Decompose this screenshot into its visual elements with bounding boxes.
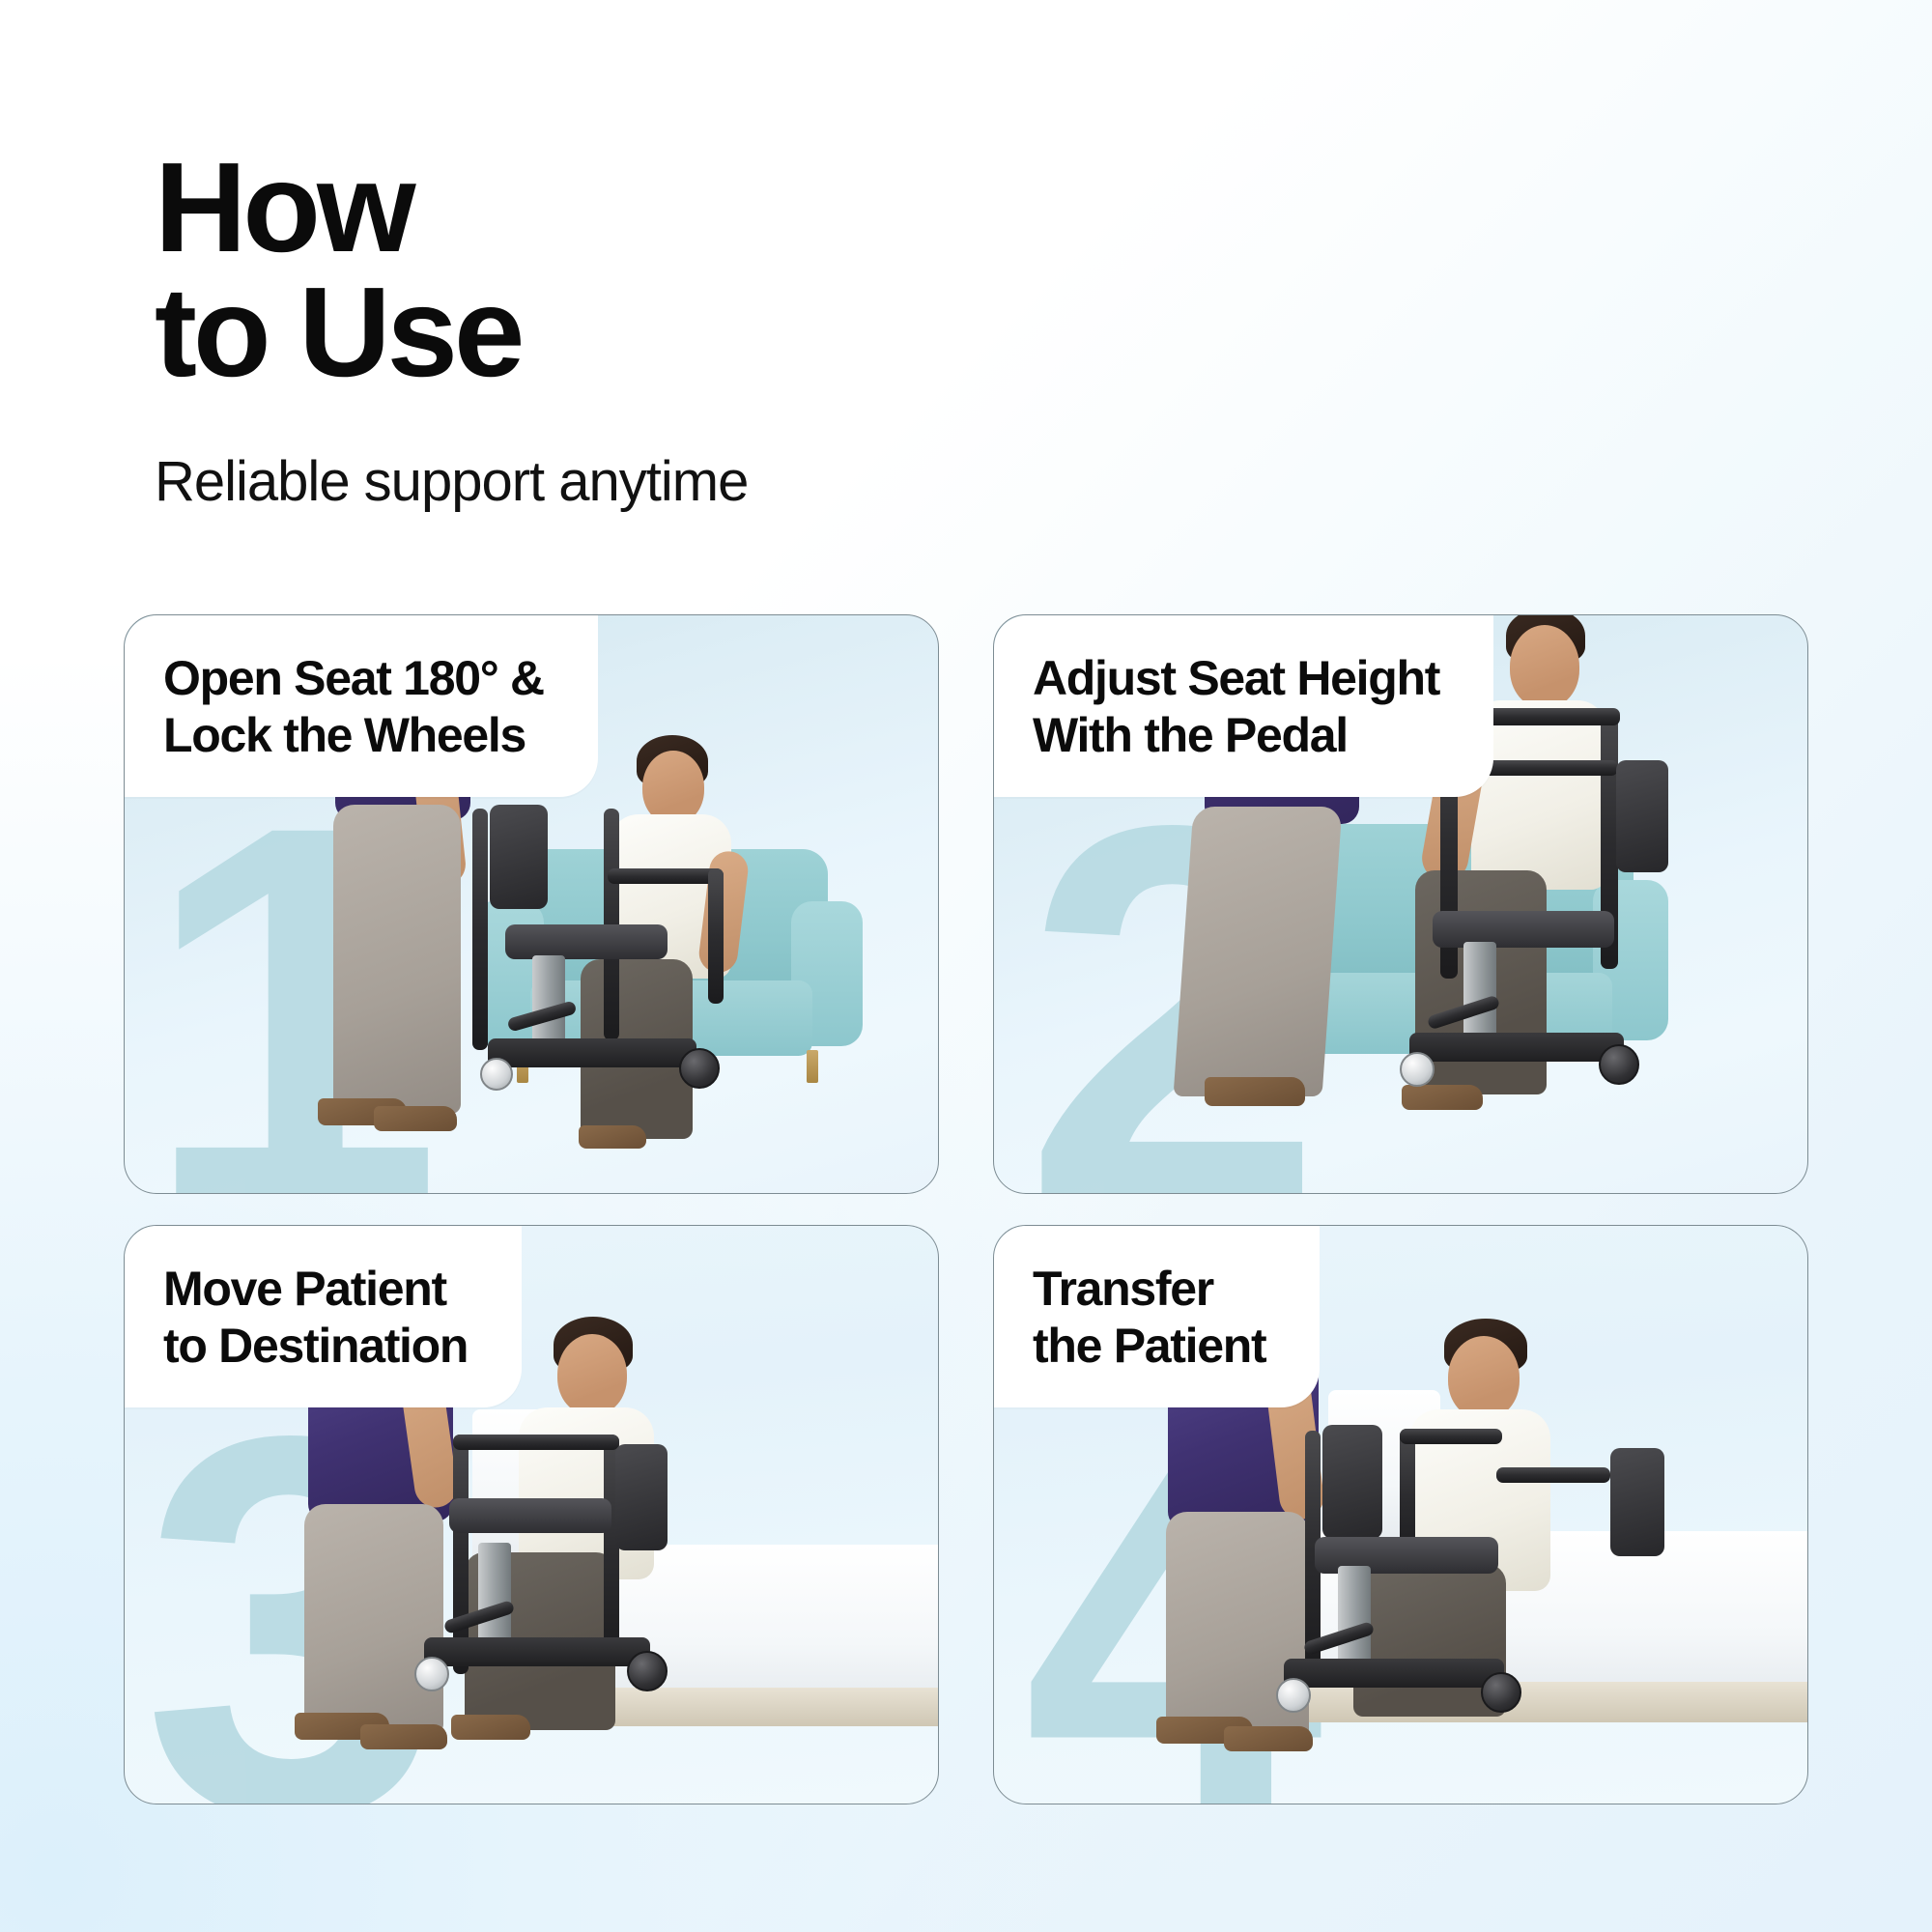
patient-foot bbox=[579, 1125, 646, 1149]
step-card-4[interactable]: 4 bbox=[993, 1225, 1808, 1804]
step-label-3-line-2: to Destination bbox=[163, 1318, 468, 1375]
step-label-4: Transfer the Patient bbox=[994, 1226, 1320, 1407]
lift-base-plate bbox=[488, 1038, 696, 1067]
lift-backrest-pad bbox=[490, 805, 548, 909]
caregiver-foot bbox=[1205, 1077, 1305, 1106]
patient-head bbox=[557, 1334, 627, 1415]
lift-caster-front bbox=[1400, 1052, 1435, 1087]
bed-frame bbox=[1255, 1682, 1808, 1722]
page-header: How to Use Reliable support anytime bbox=[155, 145, 1314, 514]
lift-backrest-pad-far bbox=[1610, 1448, 1664, 1556]
caregiver-foot-right bbox=[360, 1724, 447, 1749]
lift-caster-rear bbox=[627, 1651, 668, 1691]
page-title: How to Use bbox=[155, 145, 1314, 395]
lift-base-plate bbox=[1409, 1033, 1624, 1062]
lift-armrest-bar bbox=[608, 868, 724, 884]
page-subtitle: Reliable support anytime bbox=[155, 449, 1314, 514]
lift-caster-front bbox=[1276, 1678, 1311, 1713]
step-label-4-line-2: the Patient bbox=[1033, 1318, 1265, 1375]
step-label-2-line-2: With the Pedal bbox=[1033, 707, 1439, 764]
caregiver-foot-right bbox=[374, 1106, 457, 1131]
lift-hydraulic-piston bbox=[1463, 942, 1496, 1044]
step-label-3: Move Patient to Destination bbox=[125, 1226, 522, 1407]
step-label-1-line-2: Lock the Wheels bbox=[163, 707, 544, 764]
lift-seat-pad bbox=[449, 1498, 611, 1533]
lift-armrest-bar bbox=[1496, 1467, 1610, 1483]
step-card-2[interactable]: 2 bbox=[993, 614, 1808, 1194]
patient-head bbox=[1510, 625, 1579, 708]
lift-hydraulic-piston bbox=[1338, 1566, 1371, 1666]
caregiver-foot-right bbox=[1224, 1726, 1313, 1751]
sofa-leg-right bbox=[807, 1050, 818, 1083]
step-card-1[interactable]: 1 bbox=[124, 614, 939, 1194]
caregiver-legs bbox=[333, 805, 461, 1114]
lift-backrest-pad bbox=[1322, 1425, 1382, 1539]
lift-caster-front bbox=[480, 1058, 513, 1091]
caregiver-legs bbox=[1174, 807, 1343, 1096]
lift-handle-top bbox=[453, 1435, 619, 1450]
lift-backrest-pad bbox=[615, 1444, 668, 1550]
step-label-1: Open Seat 180° & Lock the Wheels bbox=[125, 615, 598, 797]
steps-grid: 1 bbox=[124, 614, 1808, 1804]
patient-foot bbox=[1402, 1085, 1483, 1110]
lift-caster-rear bbox=[1481, 1672, 1521, 1713]
lift-seat-pad bbox=[1433, 911, 1614, 948]
step-label-1-line-1: Open Seat 180° & bbox=[163, 650, 544, 707]
step-label-2-line-1: Adjust Seat Height bbox=[1033, 650, 1439, 707]
page-title-line-1: How bbox=[155, 136, 412, 278]
lift-caster-front bbox=[414, 1657, 449, 1691]
lift-caster-rear bbox=[679, 1048, 720, 1089]
lift-base-plate bbox=[1284, 1659, 1504, 1688]
lift-seat-pad bbox=[505, 924, 668, 959]
patient-foot bbox=[451, 1715, 530, 1740]
lift-frame-vertical-left bbox=[472, 809, 488, 1050]
step-label-2: Adjust Seat Height With the Pedal bbox=[994, 615, 1493, 797]
page-title-line-2: to Use bbox=[155, 270, 1314, 394]
patient-head bbox=[1448, 1336, 1520, 1419]
lift-armrest-post bbox=[708, 868, 724, 1004]
step-label-3-line-1: Move Patient bbox=[163, 1261, 468, 1318]
step-card-3[interactable]: 3 bbox=[124, 1225, 939, 1804]
lift-hydraulic-piston bbox=[478, 1543, 511, 1645]
patient-head bbox=[642, 751, 704, 824]
lift-backrest-pad bbox=[1616, 760, 1668, 872]
lift-handle-top bbox=[1400, 1429, 1502, 1444]
caregiver-legs bbox=[304, 1504, 443, 1734]
lift-base-plate bbox=[424, 1637, 650, 1666]
lift-caster-rear bbox=[1599, 1044, 1639, 1085]
step-label-4-line-1: Transfer bbox=[1033, 1261, 1265, 1318]
